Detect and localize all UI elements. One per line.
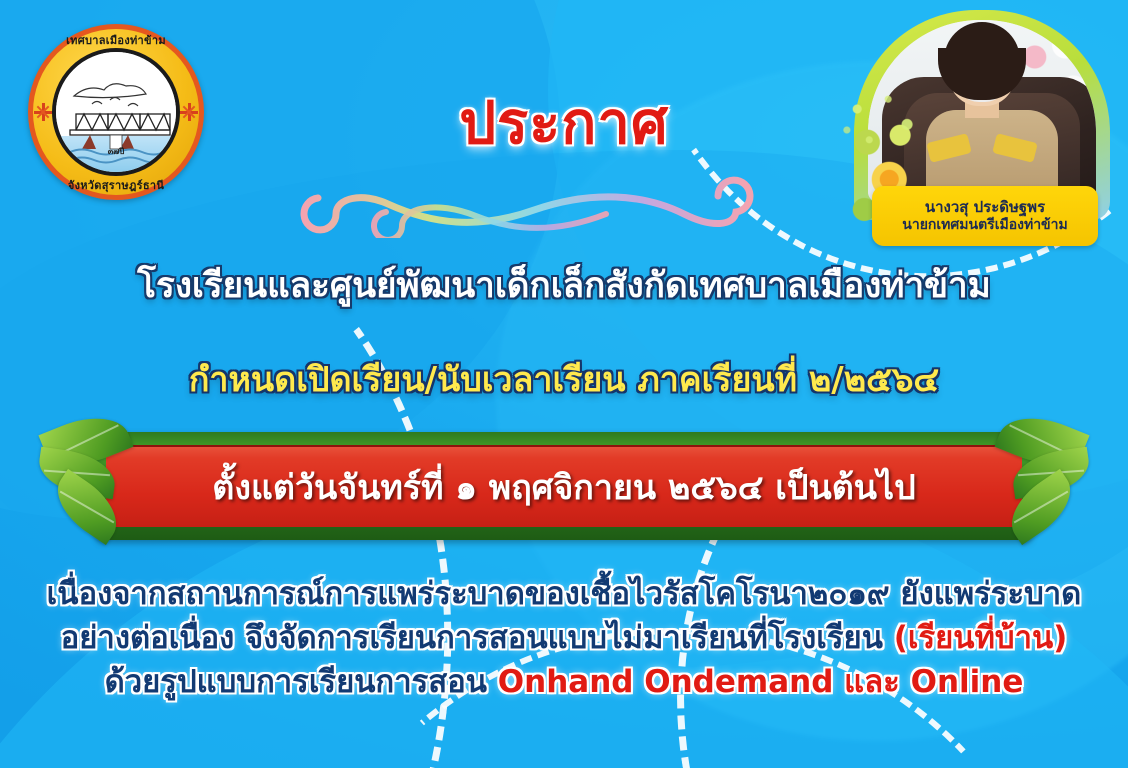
body-line-3-navy: ด้วยรูปแบบการเรียนการสอน: [105, 664, 498, 700]
body-line-2: อย่างต่อเนื่อง จึงจัดการเรียนการสอนแบบไม…: [0, 616, 1128, 660]
semester-subheadline: กำหนดเปิดเรียน/นับเวลาเรียน ภาคเรียนที่ …: [0, 352, 1128, 406]
leaf-decoration-right: [986, 412, 1090, 558]
announcement-poster: เทศบาลเมืองท่าข้าม จังหวัดสุราษฎร์ธานี: [0, 0, 1128, 768]
leaf-decoration-left: [38, 412, 142, 558]
seal-arc-top-text: เทศบาลเมืองท่าข้าม: [28, 31, 204, 49]
page-title: ประกาศ: [0, 76, 1128, 169]
start-date-text: ตั้งแต่วันจันทร์ที่ ๑ พฤศจิกายน ๒๕๖๔ เป็…: [172, 460, 955, 514]
banner-red-plate: ตั้งแต่วันจันทร์ที่ ๑ พฤศจิกายน ๒๕๖๔ เป็…: [106, 445, 1022, 527]
body-line-3: ด้วยรูปแบบการเรียนการสอน Onhand Ondemand…: [0, 660, 1128, 704]
body-line-1: เนื่องจากสถานการณ์การแพร่ระบาดของเชื้อไว…: [0, 572, 1128, 616]
school-headline: โรงเรียนและศูนย์พัฒนาเด็กเล็กสังกัดเทศบา…: [0, 258, 1128, 313]
mayor-role: นายกเทศมนตรีเมืองท่าข้าม: [902, 218, 1067, 233]
body-line-2-navy: อย่างต่อเนื่อง จึงจัดการเรียนการสอนแบบไม…: [61, 620, 894, 656]
start-date-banner: ตั้งแต่วันจันทร์ที่ ๑ พฤศจิกายน ๒๕๖๔ เป็…: [96, 432, 1032, 540]
ornamental-flourish-divider: [274, 168, 854, 238]
seal-arc-bottom-text: จังหวัดสุราษฎร์ธานี: [28, 176, 204, 194]
mayor-nameplate: นางวสุ ประดิษฐพร นายกเทศมนตรีเมืองท่าข้า…: [872, 186, 1098, 246]
announcement-body: เนื่องจากสถานการณ์การแพร่ระบาดของเชื้อไว…: [0, 572, 1128, 704]
body-line-2-highlight: (เรียนที่บ้าน): [894, 620, 1068, 656]
body-line-3-highlight: Onhand Ondemand และ Online: [498, 664, 1024, 700]
mayor-name: นางวสุ ประดิษฐพร: [925, 199, 1045, 216]
